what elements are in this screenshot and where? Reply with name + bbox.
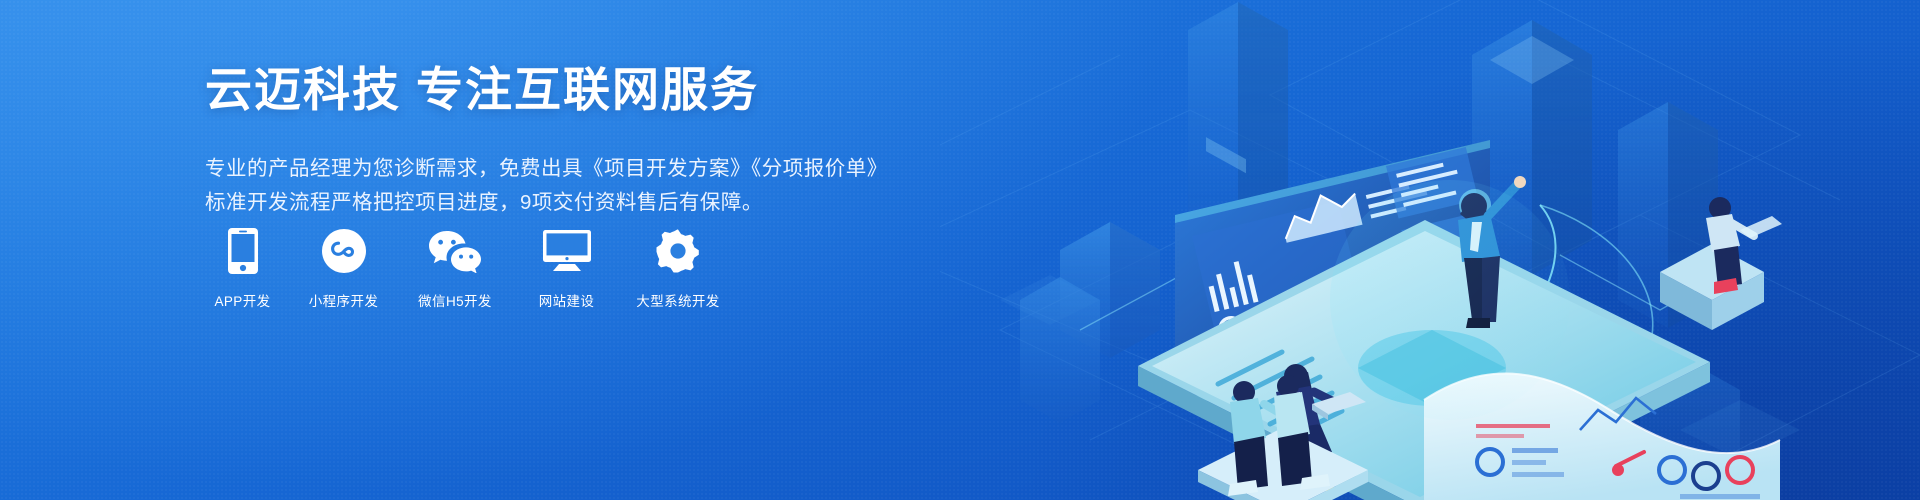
service-list: APP开发 小程序开发 微信 xyxy=(205,228,726,310)
mini-program-icon xyxy=(322,228,366,274)
page-title: 云迈科技 专注互联网服务 xyxy=(205,62,905,118)
wechat-icon xyxy=(428,228,482,274)
service-label: 小程序开发 xyxy=(309,290,379,310)
service-item-app[interactable]: APP开发 xyxy=(205,228,280,310)
service-item-large-system[interactable]: 大型系统开发 xyxy=(630,228,726,310)
service-label: 大型系统开发 xyxy=(636,290,719,310)
isometric-tech-dashboard-illustration xyxy=(1020,0,1800,500)
service-item-miniprogram[interactable]: 小程序开发 xyxy=(306,228,381,310)
glow-accent xyxy=(1330,180,1570,420)
hero-copy: 云迈科技 专注互联网服务 专业的产品经理为您诊断需求，免费出具《项目开发方案》《… xyxy=(205,62,905,220)
service-label: 网站建设 xyxy=(539,290,595,310)
monitor-icon xyxy=(543,228,591,274)
gear-icon xyxy=(656,228,700,274)
hero-subtitle-line-1: 专业的产品经理为您诊断需求，免费出具《项目开发方案》《分项报价单》 xyxy=(205,157,888,180)
mobile-phone-icon xyxy=(228,228,258,274)
service-label: 微信H5开发 xyxy=(418,290,492,310)
service-item-website[interactable]: 网站建设 xyxy=(529,228,604,310)
hero-banner: 云迈科技 专注互联网服务 专业的产品经理为您诊断需求，免费出具《项目开发方案》《… xyxy=(0,0,1920,500)
hero-subtitle-line-2: 标准开发流程严格把控项目进度，9项交付资料售后有保障。 xyxy=(205,186,905,220)
hero-subtitle: 专业的产品经理为您诊断需求，免费出具《项目开发方案》《分项报价单》 标准开发流程… xyxy=(205,152,905,220)
service-label: APP开发 xyxy=(214,290,270,310)
service-item-wechat-h5[interactable]: 微信H5开发 xyxy=(407,228,503,310)
